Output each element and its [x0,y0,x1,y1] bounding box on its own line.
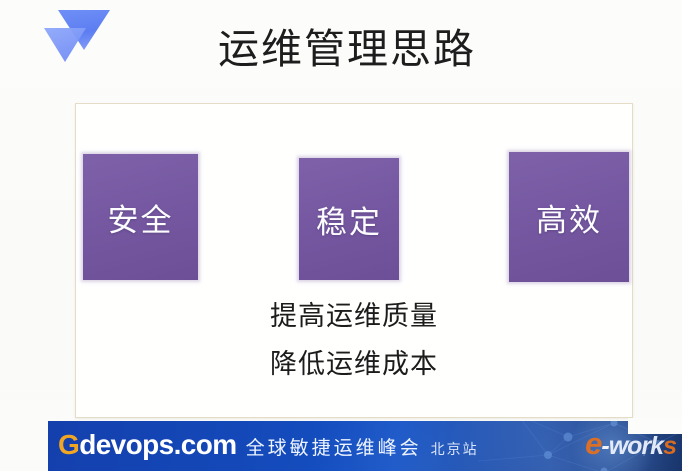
slide-canvas: 运维管理思路 安全 稳定 高效 提高运维质量 降低运维成本 [0,0,682,471]
caption-line-cost: 降低运维成本 [76,340,632,388]
gdevops-wordmark: Gdevops.com [58,429,237,461]
content-frame: 安全 稳定 高效 提高运维质量 降低运维成本 [75,103,633,418]
pillar-box-stability: 稳定 [299,158,399,280]
banner-city: 北京站 [431,439,479,459]
event-banner: Gdevops.com 全球敏捷运维峰会 北京站 e-works [48,421,682,471]
eworks-dash: - [601,432,608,460]
pillar-box-efficiency: 高效 [509,152,629,282]
eworks-word: work [609,432,663,460]
gdevops-wordmark-rest: devops.com [79,429,236,460]
gdevops-brand: Gdevops.com 全球敏捷运维峰会 北京站 [58,429,479,461]
eworks-initial: e [585,426,601,461]
caption-group: 提高运维质量 降低运维成本 [76,292,632,388]
banner-summit-name: 全球敏捷运维峰会 [246,433,422,460]
watermark-plate [628,418,682,434]
caption-line-quality: 提高运维质量 [76,292,632,340]
page-title: 运维管理思路 [0,24,682,74]
pillar-label: 安全 [108,195,174,240]
pillar-label: 稳定 [316,197,382,242]
pillar-box-security: 安全 [83,154,198,280]
eworks-suffix: s [663,432,676,460]
pillar-label: 高效 [536,195,602,240]
gdevops-initial: G [58,429,79,460]
